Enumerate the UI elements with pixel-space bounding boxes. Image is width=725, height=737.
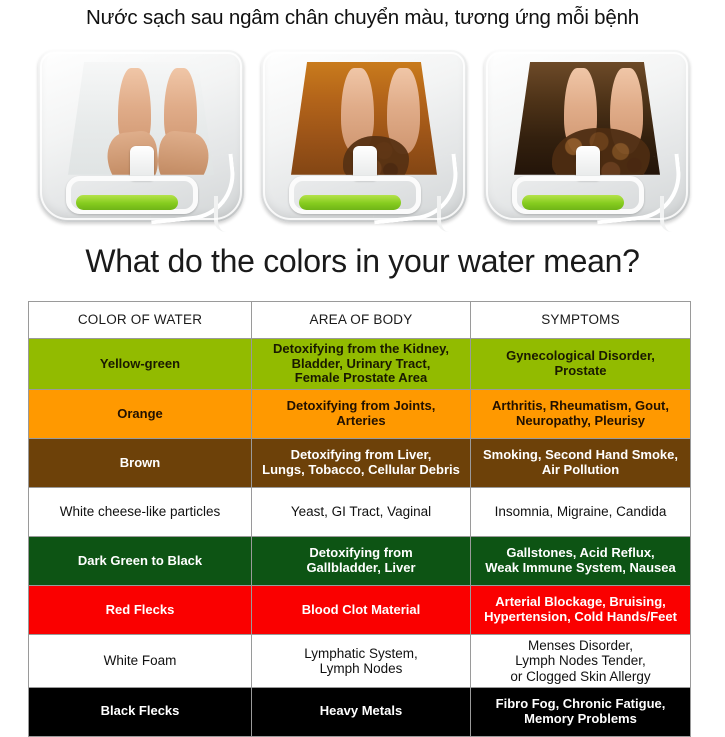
table-header-row: COLOR OF WATER AREA OF BODY SYMPTOMS	[29, 302, 691, 339]
cell-line: Insomnia, Migraine, Candida	[475, 504, 686, 519]
cell-line: Orange	[33, 407, 247, 422]
cell-area-of-body: Detoxifying from Liver,Lungs, Tobacco, C…	[252, 439, 471, 488]
cell-symptoms: Insomnia, Migraine, Candida	[471, 488, 691, 537]
table-row: White FoamLymphatic System,Lymph NodesMe…	[29, 635, 691, 688]
table-row: OrangeDetoxifying from Joints,ArteriesAr…	[29, 390, 691, 439]
table-row: BrownDetoxifying from Liver,Lungs, Tobac…	[29, 439, 691, 488]
cell-color-of-water: White Foam	[29, 635, 252, 688]
basin-handle	[289, 176, 421, 214]
power-cord-tail	[660, 196, 690, 232]
cell-line: Lymph Nodes	[256, 661, 466, 676]
cell-line: Fibro Fog, Chronic Fatigue,	[475, 697, 686, 712]
cell-line: Weak Immune System, Nausea	[475, 561, 686, 576]
cell-line: Female Prostate Area	[256, 371, 466, 386]
water-area-orange	[291, 62, 437, 182]
power-cord	[591, 154, 685, 225]
header-symptoms: SYMPTOMS	[471, 302, 691, 339]
ion-array-unit	[576, 146, 600, 180]
power-cord-tail	[214, 196, 244, 232]
basin-handle	[512, 176, 644, 214]
power-cord	[368, 154, 462, 225]
cell-line: Gallstones, Acid Reflux,	[475, 546, 686, 561]
foot-bath-photo-dark	[480, 44, 694, 236]
water-color-chart: COLOR OF WATER AREA OF BODY SYMPTOMS Yel…	[28, 301, 691, 737]
water-area-clear	[68, 62, 214, 182]
left-foot	[105, 130, 161, 193]
water-area-dark	[514, 62, 660, 182]
basin-shell	[38, 50, 244, 222]
right-leg	[610, 68, 643, 154]
cell-area-of-body: Heavy Metals	[252, 687, 471, 736]
cell-symptoms: Arthritis, Rheumatism, Gout,Neuropathy, …	[471, 390, 691, 439]
table-row: White cheese-like particlesYeast, GI Tra…	[29, 488, 691, 537]
cell-line: Menses Disorder,	[475, 638, 686, 653]
table-row: Red FlecksBlood Clot MaterialArterial Bl…	[29, 586, 691, 635]
cell-symptoms: Fibro Fog, Chronic Fatigue,Memory Proble…	[471, 687, 691, 736]
cell-line: Arteries	[256, 414, 466, 429]
right-foot	[155, 130, 211, 193]
cell-line: Blood Clot Material	[256, 603, 466, 618]
cell-color-of-water: Dark Green to Black	[29, 537, 252, 586]
header-area-of-body: AREA OF BODY	[252, 302, 471, 339]
cell-area-of-body: Detoxifying from the Kidney,Bladder, Uri…	[252, 339, 471, 390]
cell-line: Lymphatic System,	[256, 646, 466, 661]
vietnamese-caption: Nước sạch sau ngâm chân chuyển màu, tươn…	[0, 6, 725, 30]
green-handle-grip	[76, 195, 178, 210]
cell-line: Detoxifying from	[256, 546, 466, 561]
cell-line: Gynecological Disorder,	[475, 349, 686, 364]
cell-line: White Foam	[33, 653, 247, 668]
cell-symptoms: Smoking, Second Hand Smoke,Air Pollution	[471, 439, 691, 488]
cell-symptoms: Gallstones, Acid Reflux,Weak Immune Syst…	[471, 537, 691, 586]
cell-line: Black Flecks	[33, 704, 247, 719]
sediment-clump-heavy	[552, 128, 650, 190]
left-leg	[341, 68, 374, 154]
cell-line: Yellow-green	[33, 357, 247, 372]
infographic-page: Nước sạch sau ngâm chân chuyển màu, tươn…	[0, 0, 725, 725]
left-leg	[118, 68, 151, 154]
left-leg	[564, 68, 597, 154]
cell-area-of-body: Yeast, GI Tract, Vaginal	[252, 488, 471, 537]
cell-line: Brown	[33, 456, 247, 471]
ion-array-unit	[130, 146, 154, 180]
color-chart-wrapper: COLOR OF WATER AREA OF BODY SYMPTOMS Yel…	[28, 301, 690, 737]
cell-line: Dark Green to Black	[33, 554, 247, 569]
cell-line: Detoxifying from the Kidney,	[256, 342, 466, 357]
table-body: Yellow-greenDetoxifying from the Kidney,…	[29, 339, 691, 737]
cell-line: Memory Problems	[475, 712, 686, 727]
power-cord	[145, 154, 239, 225]
cell-line: Lymph Nodes Tender,	[475, 653, 686, 668]
cell-color-of-water: Red Flecks	[29, 586, 252, 635]
cell-area-of-body: Detoxifying from Joints,Arteries	[252, 390, 471, 439]
sediment-clump	[343, 136, 409, 188]
cell-line: Arterial Blockage, Bruising,	[475, 595, 686, 610]
basin-shell	[261, 50, 467, 222]
cell-line: or Clogged Skin Allergy	[475, 669, 686, 684]
cell-color-of-water: Black Flecks	[29, 687, 252, 736]
cell-line: Bladder, Urinary Tract,	[256, 357, 466, 372]
ion-array-unit	[353, 146, 377, 180]
cell-line: Neuropathy, Pleurisy	[475, 414, 686, 429]
page-title: What do the colors in your water mean?	[0, 243, 725, 280]
foot-bath-photo-orange	[257, 44, 471, 236]
green-handle-grip	[522, 195, 624, 210]
cell-color-of-water: Brown	[29, 439, 252, 488]
power-cord-tail	[437, 196, 467, 232]
cell-line: Gallbladder, Liver	[256, 561, 466, 576]
right-leg	[387, 68, 420, 154]
foot-bath-photo-clear	[34, 44, 248, 236]
cell-line: Air Pollution	[475, 463, 686, 478]
cell-area-of-body: Blood Clot Material	[252, 586, 471, 635]
cell-color-of-water: White cheese-like particles	[29, 488, 252, 537]
cell-line: Arthritis, Rheumatism, Gout,	[475, 399, 686, 414]
table-row: Dark Green to BlackDetoxifying fromGallb…	[29, 537, 691, 586]
cell-line: Yeast, GI Tract, Vaginal	[256, 504, 466, 519]
cell-color-of-water: Orange	[29, 390, 252, 439]
green-handle-grip	[299, 195, 401, 210]
cell-line: Detoxifying from Joints,	[256, 399, 466, 414]
table-row: Yellow-greenDetoxifying from the Kidney,…	[29, 339, 691, 390]
cell-symptoms: Arterial Blockage, Bruising,Hypertension…	[471, 586, 691, 635]
cell-line: Prostate	[475, 364, 686, 379]
cell-line: Lungs, Tobacco, Cellular Debris	[256, 463, 466, 478]
cell-line: Detoxifying from Liver,	[256, 448, 466, 463]
cell-symptoms: Menses Disorder,Lymph Nodes Tender,or Cl…	[471, 635, 691, 688]
cell-color-of-water: Yellow-green	[29, 339, 252, 390]
header-color-of-water: COLOR OF WATER	[29, 302, 252, 339]
basin-handle	[66, 176, 198, 214]
foot-bath-photo-strip	[34, 44, 694, 236]
cell-line: Hypertension, Cold Hands/Feet	[475, 610, 686, 625]
cell-area-of-body: Lymphatic System,Lymph Nodes	[252, 635, 471, 688]
basin-shell	[484, 50, 690, 222]
cell-line: Smoking, Second Hand Smoke,	[475, 448, 686, 463]
cell-area-of-body: Detoxifying fromGallbladder, Liver	[252, 537, 471, 586]
right-leg	[164, 68, 197, 154]
table-row: Black FlecksHeavy MetalsFibro Fog, Chron…	[29, 687, 691, 736]
cell-line: Red Flecks	[33, 603, 247, 618]
cell-line: White cheese-like particles	[33, 504, 247, 519]
cell-line: Heavy Metals	[256, 704, 466, 719]
cell-symptoms: Gynecological Disorder,Prostate	[471, 339, 691, 390]
